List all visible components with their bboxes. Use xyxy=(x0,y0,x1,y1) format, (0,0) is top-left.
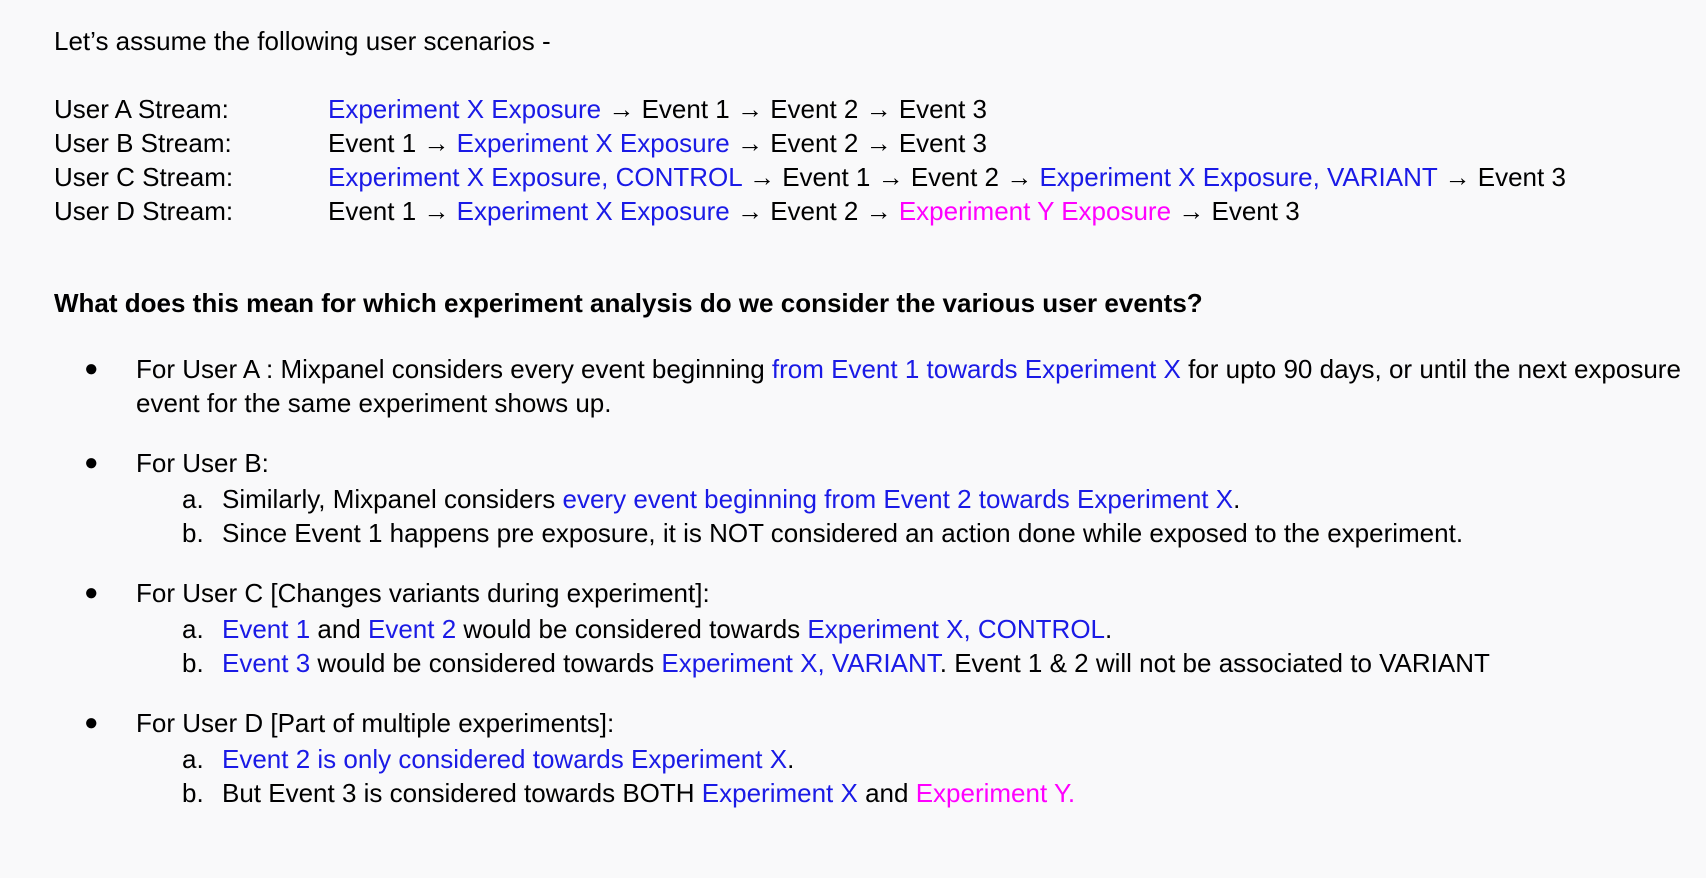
sub-list-item: b.But Event 3 is considered towards BOTH… xyxy=(54,776,1688,810)
user-stream-list: User A Stream:Experiment X Exposure → Ev… xyxy=(54,92,1688,228)
bullet-3-sub-1-segment-1: Experiment X xyxy=(702,778,858,808)
stream-0-segment-1: → xyxy=(601,94,641,124)
bullet-0-segment-0: For User A : Mixpanel considers every ev… xyxy=(136,354,772,384)
stream-1-segment-0: Event 1 xyxy=(328,128,416,158)
sub-list-item: b.Event 3 would be considered towards Ex… xyxy=(54,646,1688,680)
sub-list-item: b.Since Event 1 happens pre exposure, it… xyxy=(54,516,1688,550)
user-stream-label: User D Stream: xyxy=(54,194,328,228)
sub-list-text: But Event 3 is considered towards BOTH E… xyxy=(222,776,1688,810)
sub-list-text: Event 3 would be considered towards Expe… xyxy=(222,646,1688,680)
bullet-2-sub-0-segment-2: Event 2 xyxy=(368,614,456,644)
bullet-1-sub-0-segment-2: . xyxy=(1233,484,1240,514)
stream-1-segment-4: Event 2 xyxy=(770,128,858,158)
stream-2-segment-6: Experiment X Exposure, VARIANT xyxy=(1039,162,1437,192)
list-item: ●For User A : Mixpanel considers every e… xyxy=(54,352,1688,420)
list-item: ●For User B: xyxy=(54,446,1688,480)
bullet-3-sub-0-segment-1: . xyxy=(787,744,794,774)
bullet-2-sub-0-segment-0: Event 1 xyxy=(222,614,310,644)
bullet-2-sub-0-segment-5: . xyxy=(1105,614,1112,644)
bullet-3-sub-1-segment-3: Experiment Y. xyxy=(916,778,1075,808)
bullet-text: For User A : Mixpanel considers every ev… xyxy=(136,352,1688,420)
bullet-2-sub-1-segment-1: would be considered towards xyxy=(310,648,661,678)
sub-list-marker: a. xyxy=(54,742,222,776)
user-stream-flow: Experiment X Exposure → Event 1 → Event … xyxy=(328,92,987,126)
sub-list-item: a.Event 2 is only considered towards Exp… xyxy=(54,742,1688,776)
bullet-text: For User C [Changes variants during expe… xyxy=(136,576,1688,610)
sub-list: a.Event 1 and Event 2 would be considere… xyxy=(54,612,1688,680)
sub-list-marker: b. xyxy=(54,646,222,680)
user-stream-row: User B Stream:Event 1 → Experiment X Exp… xyxy=(54,126,1688,160)
user-stream-label: User A Stream: xyxy=(54,92,328,126)
stream-0-segment-4: Event 2 xyxy=(770,94,858,124)
bullet-marker-icon: ● xyxy=(54,352,136,386)
sub-list-text: Event 1 and Event 2 would be considered … xyxy=(222,612,1688,646)
stream-3-segment-3: → xyxy=(730,196,770,226)
user-stream-row: User D Stream:Event 1 → Experiment X Exp… xyxy=(54,194,1688,228)
bullet-3-sub-1-segment-0: But Event 3 is considered towards BOTH xyxy=(222,778,702,808)
bullet-3-sub-0-segment-0: Event 2 is only considered towards Exper… xyxy=(222,744,787,774)
bullet-text: For User D [Part of multiple experiments… xyxy=(136,706,1688,740)
stream-3-segment-8: Event 3 xyxy=(1211,196,1299,226)
sub-list-item: a.Event 1 and Event 2 would be considere… xyxy=(54,612,1688,646)
user-stream-label: User B Stream: xyxy=(54,126,328,160)
bullet-1-sub-0-segment-1: every event beginning from Event 2 towar… xyxy=(563,484,1234,514)
stream-2-segment-0: Experiment X Exposure, CONTROL xyxy=(328,162,742,192)
bullet-1-segment-0: For User B: xyxy=(136,448,269,478)
bullet-1-sub-0-segment-0: Similarly, Mixpanel considers xyxy=(222,484,563,514)
sub-list: a.Similarly, Mixpanel considers every ev… xyxy=(54,482,1688,550)
stream-3-segment-5: → xyxy=(858,196,898,226)
sub-list-marker: a. xyxy=(54,612,222,646)
user-stream-flow: Experiment X Exposure, CONTROL → Event 1… xyxy=(328,160,1566,194)
bullet-block: ●For User D [Part of multiple experiment… xyxy=(54,706,1688,810)
bullet-block: ●For User A : Mixpanel considers every e… xyxy=(54,352,1688,420)
user-stream-flow: Event 1 → Experiment X Exposure → Event … xyxy=(328,126,987,160)
stream-3-segment-6: Experiment Y Exposure xyxy=(899,196,1171,226)
stream-0-segment-0: Experiment X Exposure xyxy=(328,94,601,124)
stream-0-segment-6: Event 3 xyxy=(899,94,987,124)
bullet-3-segment-0: For User D [Part of multiple experiments… xyxy=(136,708,614,738)
bullet-marker-icon: ● xyxy=(54,706,136,740)
bullet-text: For User B: xyxy=(136,446,1688,480)
bullet-marker-icon: ● xyxy=(54,576,136,610)
explanation-bullet-list: ●For User A : Mixpanel considers every e… xyxy=(54,352,1688,810)
stream-0-segment-3: → xyxy=(730,94,770,124)
bullet-2-sub-0-segment-4: Experiment X, CONTROL xyxy=(807,614,1105,644)
bullet-block: ●For User C [Changes variants during exp… xyxy=(54,576,1688,680)
stream-3-segment-7: → xyxy=(1171,196,1211,226)
stream-2-segment-1: → xyxy=(742,162,782,192)
stream-1-segment-2: Experiment X Exposure xyxy=(457,128,730,158)
stream-2-segment-8: Event 3 xyxy=(1478,162,1566,192)
bullet-0-segment-1: from Event 1 towards Experiment X xyxy=(772,354,1181,384)
list-item: ●For User C [Changes variants during exp… xyxy=(54,576,1688,610)
stream-2-segment-7: → xyxy=(1437,162,1477,192)
sub-list-text: Event 2 is only considered towards Exper… xyxy=(222,742,1688,776)
bullet-2-sub-1-segment-0: Event 3 xyxy=(222,648,310,678)
sub-list-marker: b. xyxy=(54,776,222,810)
sub-list: a.Event 2 is only considered towards Exp… xyxy=(54,742,1688,810)
document-page: Let’s assume the following user scenario… xyxy=(0,0,1706,878)
bullet-3-sub-1-segment-2: and xyxy=(858,778,916,808)
stream-2-segment-3: → xyxy=(870,162,910,192)
stream-2-segment-2: Event 1 xyxy=(782,162,870,192)
bullet-2-sub-1-segment-2: Experiment X, VARIANT xyxy=(661,648,939,678)
stream-0-segment-2: Event 1 xyxy=(642,94,730,124)
user-stream-row: User C Stream:Experiment X Exposure, CON… xyxy=(54,160,1688,194)
list-item: ●For User D [Part of multiple experiment… xyxy=(54,706,1688,740)
sub-list-marker: b. xyxy=(54,516,222,550)
user-stream-flow: Event 1 → Experiment X Exposure → Event … xyxy=(328,194,1300,228)
stream-0-segment-5: → xyxy=(858,94,898,124)
user-stream-row: User A Stream:Experiment X Exposure → Ev… xyxy=(54,92,1688,126)
bullet-2-sub-0-segment-1: and xyxy=(310,614,368,644)
stream-3-segment-0: Event 1 xyxy=(328,196,416,226)
user-stream-label: User C Stream: xyxy=(54,160,328,194)
sub-list-item: a.Similarly, Mixpanel considers every ev… xyxy=(54,482,1688,516)
bullet-1-sub-1-segment-0: Since Event 1 happens pre exposure, it i… xyxy=(222,518,1463,548)
bullet-2-sub-1-segment-3: . Event 1 & 2 will not be associated to … xyxy=(940,648,1490,678)
intro-paragraph: Let’s assume the following user scenario… xyxy=(54,24,1688,58)
sub-list-text: Similarly, Mixpanel considers every even… xyxy=(222,482,1688,516)
stream-1-segment-6: Event 3 xyxy=(899,128,987,158)
stream-3-segment-1: → xyxy=(416,196,456,226)
stream-1-segment-5: → xyxy=(858,128,898,158)
bullet-2-segment-0: For User C [Changes variants during expe… xyxy=(136,578,710,608)
sub-list-marker: a. xyxy=(54,482,222,516)
bullet-marker-icon: ● xyxy=(54,446,136,480)
stream-2-segment-4: Event 2 xyxy=(911,162,999,192)
stream-1-segment-3: → xyxy=(730,128,770,158)
stream-1-segment-1: → xyxy=(416,128,456,158)
stream-3-segment-4: Event 2 xyxy=(770,196,858,226)
stream-3-segment-2: Experiment X Exposure xyxy=(457,196,730,226)
question-heading: What does this mean for which experiment… xyxy=(54,286,1688,320)
sub-list-text: Since Event 1 happens pre exposure, it i… xyxy=(222,516,1688,550)
bullet-block: ●For User B:a.Similarly, Mixpanel consid… xyxy=(54,446,1688,550)
bullet-2-sub-0-segment-3: would be considered towards xyxy=(456,614,807,644)
stream-2-segment-5: → xyxy=(999,162,1039,192)
